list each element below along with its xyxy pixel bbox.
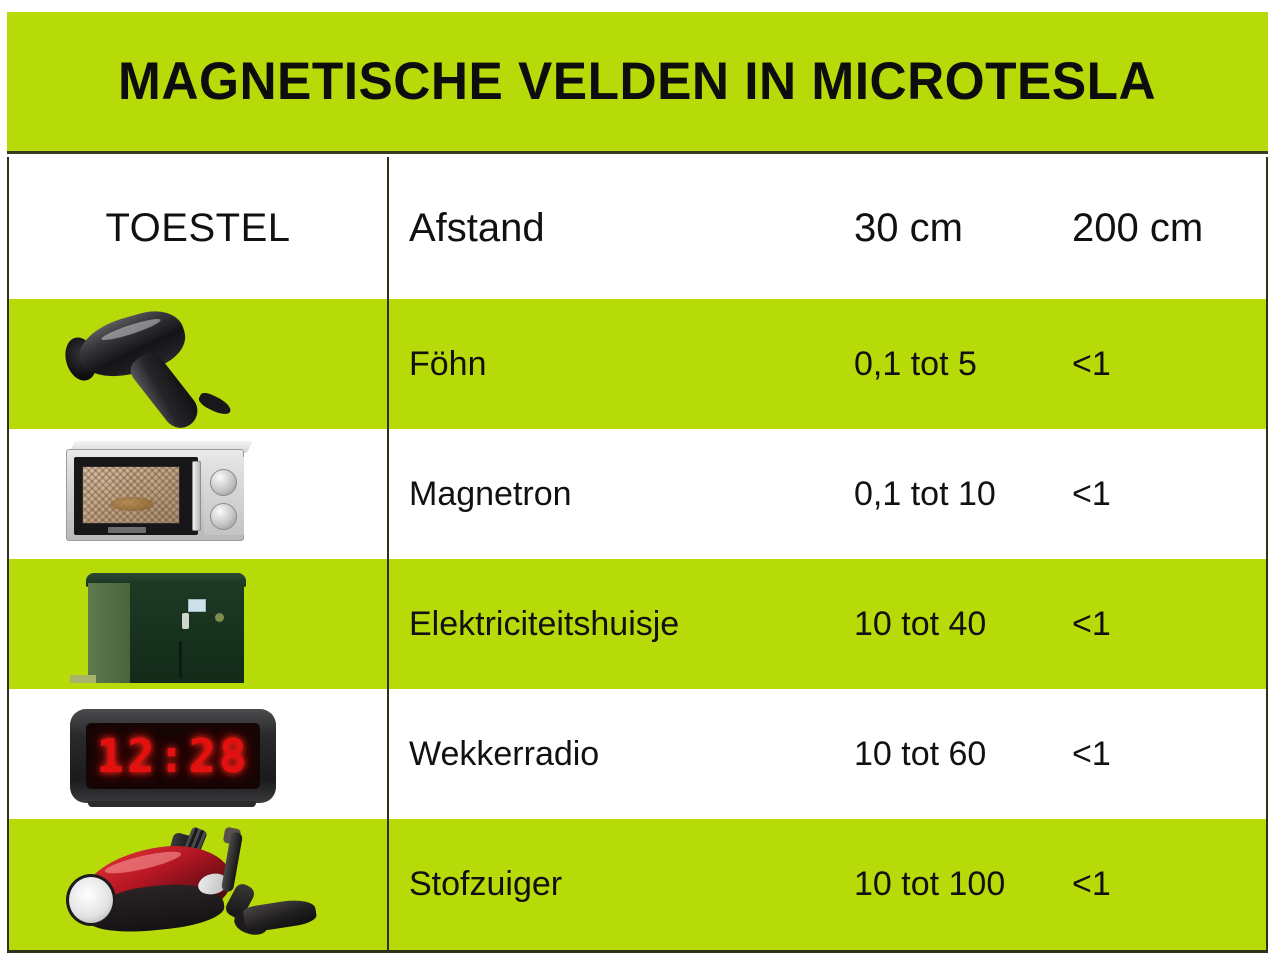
value-200cm: <1 bbox=[1072, 475, 1111, 514]
hair-dryer-icon bbox=[48, 305, 348, 423]
microwave-knob-power bbox=[210, 469, 237, 496]
value-200cm-cell: <1 bbox=[1072, 689, 1262, 819]
value-200cm: <1 bbox=[1072, 345, 1111, 384]
cabinet-label-plate bbox=[188, 599, 206, 612]
value-30cm-cell: 0,1 tot 10 bbox=[854, 429, 1064, 559]
device-image-cell: 12:28 bbox=[9, 689, 387, 819]
microwave-knob-timer bbox=[210, 503, 237, 530]
value-200cm: <1 bbox=[1072, 735, 1111, 774]
device-name-cell: Wekkerradio bbox=[409, 689, 839, 819]
device-name: Föhn bbox=[409, 345, 487, 384]
value-200cm-cell: <1 bbox=[1072, 429, 1262, 559]
table-row: 12:28 Wekkerradio 10 tot 60 <1 bbox=[9, 689, 1266, 819]
value-200cm-cell: <1 bbox=[1072, 819, 1262, 950]
header-cell-device: TOESTEL bbox=[9, 157, 387, 299]
value-30cm-cell: 0,1 tot 5 bbox=[854, 299, 1064, 429]
device-name: Stofzuiger bbox=[409, 865, 562, 904]
table-row: Elektriciteitshuisje 10 tot 40 <1 bbox=[9, 559, 1266, 689]
table-header-row: TOESTEL Afstand 30 cm 200 cm bbox=[9, 157, 1266, 299]
device-image-cell bbox=[9, 819, 387, 950]
header-label-200cm: 200 cm bbox=[1072, 206, 1203, 251]
table-row: Magnetron 0,1 tot 10 <1 bbox=[9, 429, 1266, 559]
value-30cm: 10 tot 40 bbox=[854, 605, 986, 644]
device-name: Wekkerradio bbox=[409, 735, 599, 774]
header-cell-distance: Afstand bbox=[409, 157, 839, 299]
clock-time-digits: 12:28 bbox=[96, 733, 249, 779]
header-cell-200cm: 200 cm bbox=[1072, 157, 1262, 299]
device-name: Elektriciteitshuisje bbox=[409, 605, 679, 644]
cabinet-lock bbox=[182, 613, 189, 629]
value-200cm-cell: <1 bbox=[1072, 559, 1262, 689]
page-title: MAGNETISCHE VELDEN IN MICROTESLA bbox=[118, 51, 1156, 112]
infographic-table-page: MAGNETISCHE VELDEN IN MICROTESLA TOESTEL… bbox=[0, 0, 1280, 970]
cabinet-side-panel bbox=[88, 583, 130, 683]
value-30cm-cell: 10 tot 40 bbox=[854, 559, 1064, 689]
header-label-distance: Afstand bbox=[409, 206, 545, 251]
header-cell-30cm: 30 cm bbox=[854, 157, 1064, 299]
device-name-cell: Stofzuiger bbox=[409, 819, 839, 950]
title-banner: MAGNETISCHE VELDEN IN MICROTESLA bbox=[7, 12, 1268, 154]
value-30cm-cell: 10 tot 60 bbox=[854, 689, 1064, 819]
clock-base bbox=[88, 801, 256, 807]
alarm-clock-radio-icon: 12:28 bbox=[48, 695, 348, 813]
column-divider bbox=[387, 157, 389, 950]
value-30cm-cell: 10 tot 100 bbox=[854, 819, 1064, 950]
device-name-cell: Magnetron bbox=[409, 429, 839, 559]
cabinet-door-seam bbox=[179, 641, 182, 677]
vacuum-floor-nozzle bbox=[242, 896, 317, 933]
header-label-30cm: 30 cm bbox=[854, 206, 963, 251]
value-30cm: 10 tot 60 bbox=[854, 735, 986, 774]
microwave-food bbox=[110, 497, 154, 511]
microwave-brand-mark bbox=[108, 527, 146, 533]
clock-display-screen: 12:28 bbox=[86, 723, 260, 789]
device-name-cell: Föhn bbox=[409, 299, 839, 429]
value-200cm: <1 bbox=[1072, 865, 1111, 904]
table-row: Stofzuiger 10 tot 100 <1 bbox=[9, 819, 1266, 950]
electricity-cabinet-icon bbox=[48, 565, 348, 683]
value-200cm-cell: <1 bbox=[1072, 299, 1262, 429]
vacuum-wheel bbox=[66, 874, 116, 926]
table-row: Föhn 0,1 tot 5 <1 bbox=[9, 299, 1266, 429]
microwave-window bbox=[82, 466, 180, 524]
cabinet-base bbox=[70, 675, 96, 683]
cabinet-bolt bbox=[215, 613, 224, 622]
vacuum-cleaner-icon bbox=[48, 826, 348, 944]
value-30cm: 0,1 tot 10 bbox=[854, 475, 996, 514]
device-name: Magnetron bbox=[409, 475, 572, 514]
value-30cm: 0,1 tot 5 bbox=[854, 345, 977, 384]
device-image-cell bbox=[9, 429, 387, 559]
device-name-cell: Elektriciteitshuisje bbox=[409, 559, 839, 689]
value-30cm: 10 tot 100 bbox=[854, 865, 1005, 904]
value-200cm: <1 bbox=[1072, 605, 1111, 644]
cabinet-front-door bbox=[130, 581, 244, 683]
hair-dryer-cord-tip bbox=[197, 390, 234, 417]
device-image-cell bbox=[9, 559, 387, 689]
header-label-device: TOESTEL bbox=[105, 206, 290, 251]
device-image-cell bbox=[9, 299, 387, 429]
microwave-oven-icon bbox=[48, 435, 348, 553]
microwave-door-handle bbox=[192, 461, 201, 531]
data-table: TOESTEL Afstand 30 cm 200 cm bbox=[7, 157, 1268, 953]
